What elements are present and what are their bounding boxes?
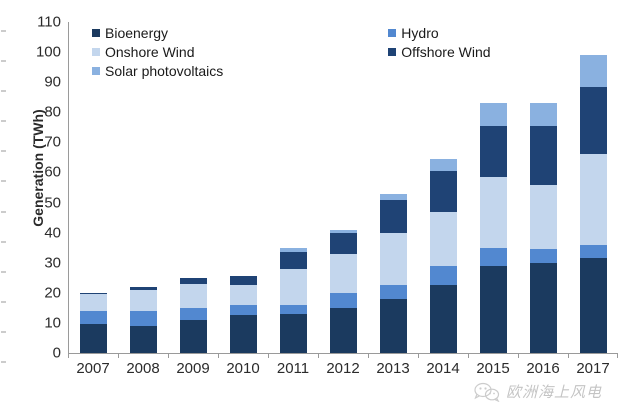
bar-segment-bioenergy[interactable] — [580, 258, 607, 353]
bar-segment-onshore-wind[interactable] — [330, 254, 357, 293]
bar-segment-solar-photovoltaics[interactable] — [480, 103, 507, 126]
y-axis-tick-label: 100 — [6, 44, 68, 61]
y-axis-tick-mark — [1, 121, 6, 122]
y-axis-tick-mark — [1, 301, 6, 302]
x-axis-tick-mark — [268, 353, 269, 358]
bar-segment-offshore-wind[interactable] — [580, 87, 607, 155]
bar-segment-bioenergy[interactable] — [480, 266, 507, 353]
x-axis-tick-mark — [368, 353, 369, 358]
stacked-bar-chart: Generation (TWh) 11010090807060504030201… — [0, 0, 626, 414]
y-axis-tick-mark — [1, 271, 6, 272]
bar-segment-hydro[interactable] — [530, 249, 557, 263]
bar-segment-onshore-wind[interactable] — [430, 212, 457, 266]
bar-segment-offshore-wind[interactable] — [280, 252, 307, 269]
watermark-text: 欧洲海上风电 — [506, 381, 602, 402]
legend-label: Onshore Wind — [105, 44, 194, 60]
y-axis-tick-mark — [1, 61, 6, 62]
bar-group-2017[interactable] — [568, 22, 618, 353]
bar-segment-solar-photovoltaics[interactable] — [430, 159, 457, 171]
bar-segment-onshore-wind[interactable] — [80, 294, 107, 311]
x-axis-tick-mark — [218, 353, 219, 358]
bar-segment-onshore-wind[interactable] — [180, 284, 207, 308]
x-axis-tick-mark — [617, 353, 618, 358]
bar-stack[interactable] — [580, 55, 607, 353]
x-axis-label-2014: 2014 — [418, 360, 468, 377]
y-axis-tick-mark — [1, 31, 6, 32]
x-axis-line — [68, 353, 618, 354]
bar-segment-onshore-wind[interactable] — [530, 185, 557, 250]
bar-segment-offshore-wind[interactable] — [530, 126, 557, 185]
bar-segment-onshore-wind[interactable] — [480, 177, 507, 248]
y-axis-tick-label: 90 — [6, 74, 68, 91]
x-axis-label-2013: 2013 — [368, 360, 418, 377]
y-axis-tick-label: 30 — [6, 254, 68, 271]
legend-swatch-icon — [92, 48, 100, 56]
legend-label: Bioenergy — [105, 25, 168, 41]
y-axis-tick-label: 70 — [6, 134, 68, 151]
bar-stack[interactable] — [380, 194, 407, 353]
legend-label: Hydro — [401, 25, 438, 41]
bar-segment-hydro[interactable] — [130, 311, 157, 326]
y-axis-tick-mark — [1, 362, 6, 363]
x-axis-label-2007: 2007 — [68, 360, 118, 377]
bar-stack[interactable] — [180, 278, 207, 353]
y-axis-tick-label: 50 — [6, 194, 68, 211]
bar-segment-offshore-wind[interactable] — [480, 126, 507, 177]
x-axis-label-2010: 2010 — [218, 360, 268, 377]
bar-segment-solar-photovoltaics[interactable] — [580, 55, 607, 87]
bar-segment-hydro[interactable] — [330, 293, 357, 308]
x-axis-tick-mark — [168, 353, 169, 358]
bar-segment-offshore-wind[interactable] — [330, 233, 357, 254]
x-axis-tick-mark — [418, 353, 419, 358]
legend-swatch-icon — [92, 67, 100, 75]
bar-stack[interactable] — [230, 276, 257, 353]
bar-segment-hydro[interactable] — [80, 311, 107, 325]
x-axis-label-2016: 2016 — [518, 360, 568, 377]
bar-stack[interactable] — [280, 248, 307, 353]
bar-stack[interactable] — [330, 230, 357, 353]
x-axis-label-2012: 2012 — [318, 360, 368, 377]
wechat-logo-icon — [474, 382, 500, 402]
bar-segment-bioenergy[interactable] — [130, 326, 157, 353]
x-axis-tick-mark — [468, 353, 469, 358]
bar-segment-offshore-wind[interactable] — [430, 171, 457, 212]
legend-swatch-icon — [388, 48, 396, 56]
legend-swatch-icon — [92, 29, 100, 37]
legend-label: Solar photovoltaics — [105, 63, 223, 79]
bar-segment-offshore-wind[interactable] — [230, 276, 257, 285]
x-axis-tick-mark — [118, 353, 119, 358]
y-axis-tick-label: 60 — [6, 164, 68, 181]
legend-label: Offshore Wind — [401, 44, 490, 60]
y-axis-tick-label: 80 — [6, 104, 68, 121]
bar-segment-offshore-wind[interactable] — [380, 200, 407, 233]
watermark: 欧洲海上风电 — [474, 381, 602, 402]
bar-segment-onshore-wind[interactable] — [230, 285, 257, 305]
bar-segment-solar-photovoltaics[interactable] — [530, 103, 557, 126]
legend-item-solar-photovoltaics[interactable]: Solar photovoltaics — [92, 62, 223, 79]
y-axis-tick-mark — [1, 91, 6, 92]
y-axis-tick-label: 0 — [6, 345, 68, 362]
x-axis-label-2009: 2009 — [168, 360, 218, 377]
bar-segment-hydro[interactable] — [180, 308, 207, 320]
legend-item-offshore-wind[interactable]: Offshore Wind — [388, 43, 490, 60]
y-axis-tick-label: 110 — [6, 14, 68, 31]
bar-segment-bioenergy[interactable] — [230, 315, 257, 353]
y-axis-tick-mark — [1, 151, 6, 152]
x-axis-label-2015: 2015 — [468, 360, 518, 377]
y-axis-tick-label: 20 — [6, 284, 68, 301]
x-axis-tick-mark — [518, 353, 519, 358]
bar-segment-hydro[interactable] — [280, 305, 307, 314]
bar-segment-hydro[interactable] — [380, 285, 407, 299]
x-axis-label-2008: 2008 — [118, 360, 168, 377]
bar-segment-bioenergy[interactable] — [380, 299, 407, 353]
bar-group-2016[interactable] — [518, 22, 568, 353]
bar-stack[interactable] — [80, 293, 107, 353]
legend-item-bioenergy[interactable]: Bioenergy — [92, 24, 223, 41]
bar-stack[interactable] — [530, 103, 557, 353]
x-axis-labels: 2007200820092010201120122013201420152016… — [68, 360, 618, 377]
bar-segment-bioenergy[interactable] — [280, 314, 307, 353]
bar-segment-bioenergy[interactable] — [180, 320, 207, 353]
bar-segment-onshore-wind[interactable] — [280, 269, 307, 305]
x-axis-label-2011: 2011 — [268, 360, 318, 377]
bar-segment-hydro[interactable] — [580, 245, 607, 259]
bar-segment-hydro[interactable] — [230, 305, 257, 316]
bar-stack[interactable] — [430, 159, 457, 353]
chart-legend: BioenergyOnshore WindSolar photovoltaics… — [92, 24, 491, 79]
x-axis-tick-mark — [568, 353, 569, 358]
legend-item-hydro[interactable]: Hydro — [388, 24, 490, 41]
bar-segment-bioenergy[interactable] — [330, 308, 357, 353]
y-axis-tick-mark — [1, 211, 6, 212]
legend-column-1: BioenergyOnshore WindSolar photovoltaics — [92, 24, 223, 79]
bar-segment-hydro[interactable] — [430, 266, 457, 286]
y-axis-tick-mark — [1, 241, 6, 242]
x-axis-tick-mark — [68, 353, 69, 358]
y-axis-tick-label: 10 — [6, 314, 68, 331]
x-axis-label-2017: 2017 — [568, 360, 618, 377]
bar-stack[interactable] — [480, 103, 507, 353]
bar-segment-onshore-wind[interactable] — [380, 233, 407, 286]
y-axis-tick-label: 40 — [6, 224, 68, 241]
bar-stack[interactable] — [130, 287, 157, 353]
y-axis-tick-mark — [1, 331, 6, 332]
y-axis-tick-mark — [1, 181, 6, 182]
bar-segment-bioenergy[interactable] — [530, 263, 557, 353]
bar-segment-hydro[interactable] — [480, 248, 507, 266]
bar-segment-onshore-wind[interactable] — [580, 154, 607, 244]
bar-segment-bioenergy[interactable] — [430, 285, 457, 353]
legend-column-2: HydroOffshore Wind — [388, 24, 490, 79]
legend-item-onshore-wind[interactable]: Onshore Wind — [92, 43, 223, 60]
x-axis-tick-mark — [318, 353, 319, 358]
bar-segment-bioenergy[interactable] — [80, 324, 107, 353]
legend-swatch-icon — [388, 29, 396, 37]
bar-segment-onshore-wind[interactable] — [130, 290, 157, 311]
